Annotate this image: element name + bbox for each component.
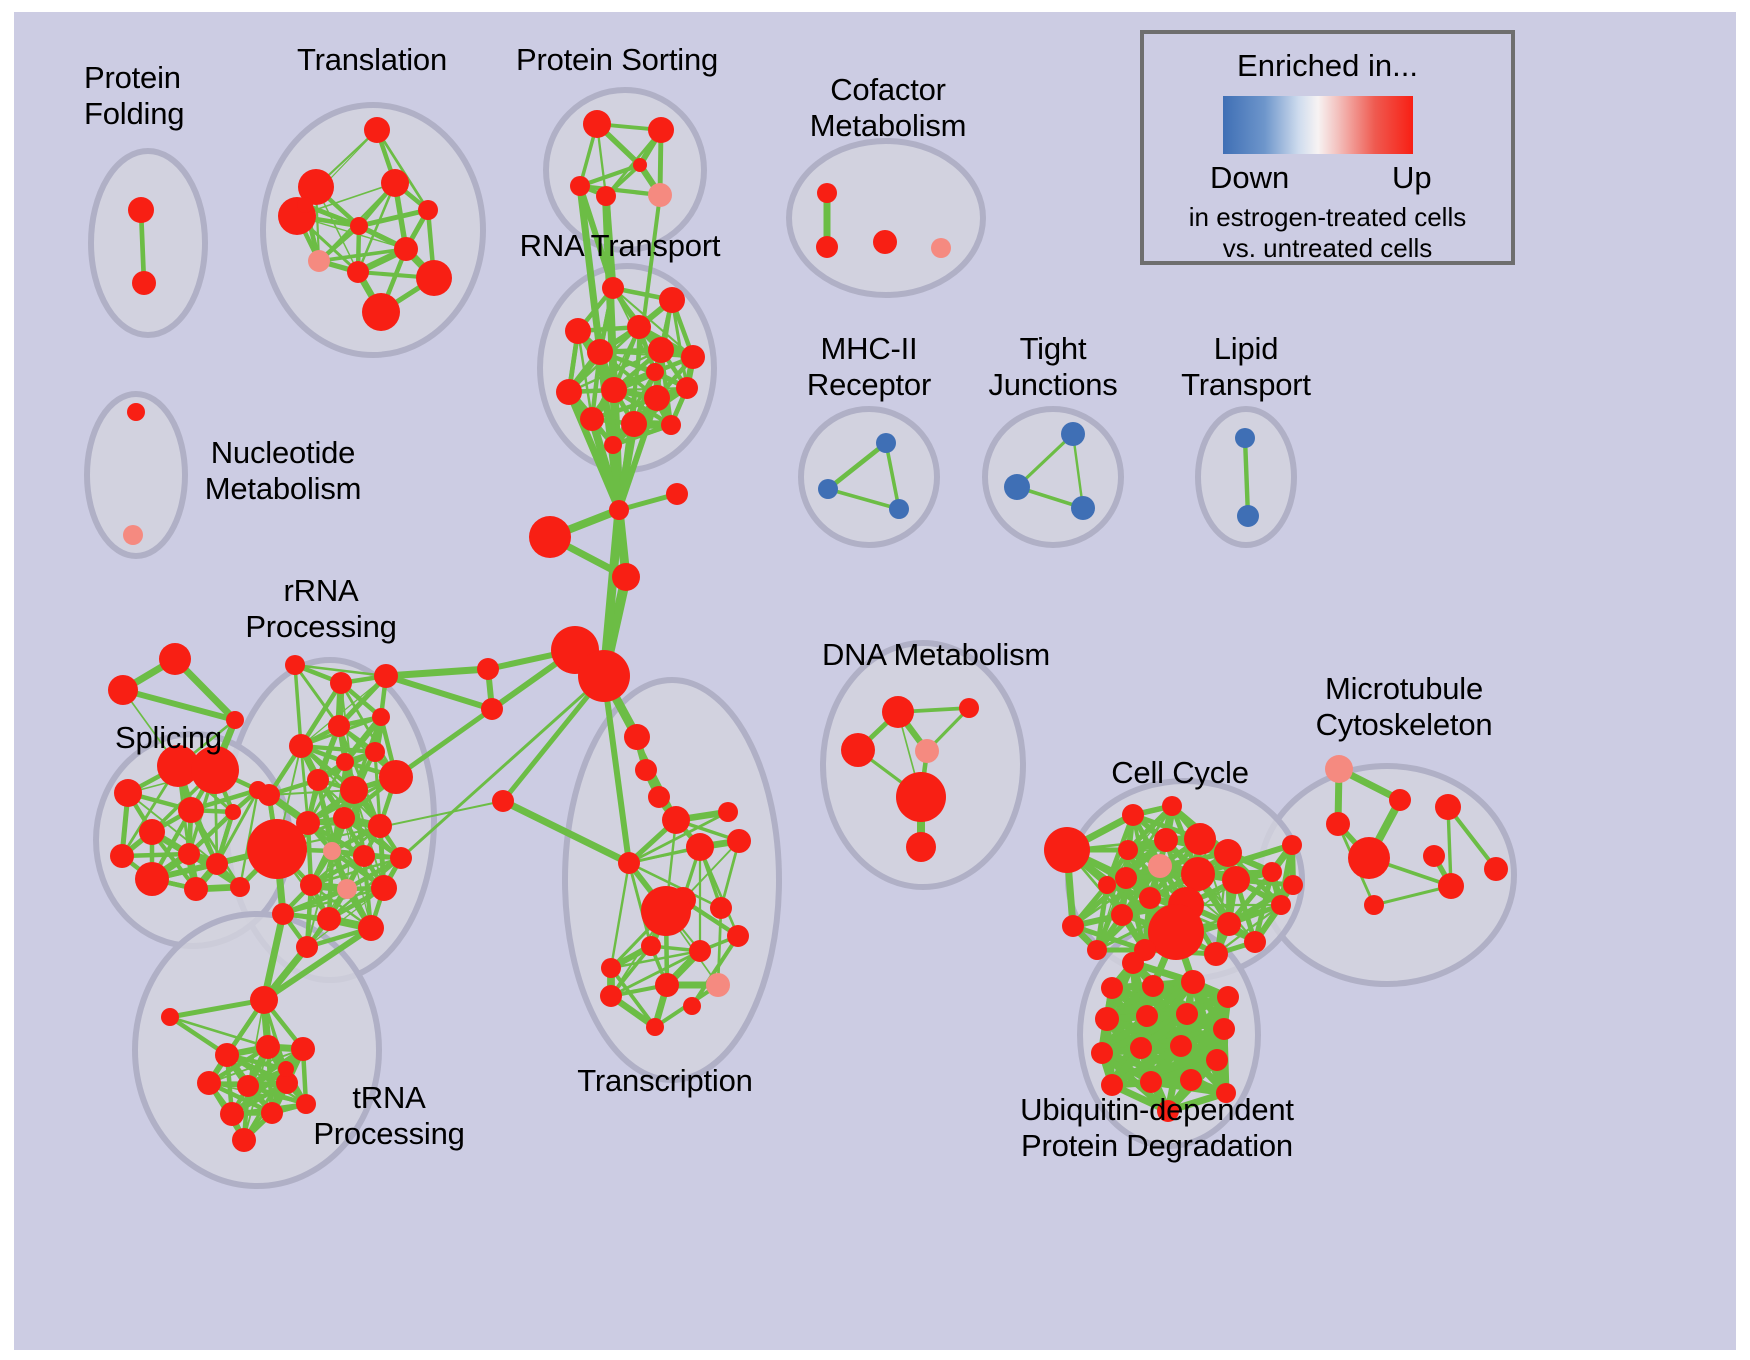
network-node-sp[interactable] (110, 844, 134, 868)
network-node-cc[interactable] (1122, 804, 1144, 826)
cluster-label-rna-transport: RNA Transport (520, 228, 721, 264)
network-node-rt[interactable] (627, 315, 651, 339)
cluster-label-lipid-transport: LipidTransport (1181, 331, 1311, 403)
network-node-rr[interactable] (258, 784, 280, 806)
cluster-ellipse-transcription (565, 680, 779, 1080)
network-node-rt[interactable] (661, 415, 681, 435)
network-node-cc[interactable] (1262, 862, 1282, 882)
network-node-cc[interactable] (1115, 867, 1137, 889)
network-node-rt[interactable] (601, 377, 627, 403)
cluster-label-line: Metabolism (810, 108, 967, 144)
cluster-label-translation: Translation (297, 42, 447, 78)
network-node-mh[interactable] (876, 433, 896, 453)
legend-down-label: Down (1210, 160, 1289, 196)
cluster-label-line: Translation (297, 42, 447, 78)
network-node-cc[interactable] (1118, 840, 1138, 860)
network-node-mt[interactable] (1435, 794, 1461, 820)
network-node-ub[interactable] (1122, 952, 1144, 974)
network-node-rt[interactable] (556, 379, 582, 405)
network-node-tx[interactable] (686, 833, 714, 861)
legend-box: Enriched in... Down Up in estrogen-treat… (1140, 30, 1515, 265)
network-node-mt[interactable] (1325, 755, 1353, 783)
network-node-lt[interactable] (1237, 505, 1259, 527)
cluster-label-line: Processing (245, 609, 396, 645)
network-node-nm[interactable] (127, 403, 145, 421)
network-node-ub[interactable] (1142, 975, 1164, 997)
legend-subtitle-line2: vs. untreated cells (1144, 233, 1511, 264)
network-node-tn[interactable] (215, 1043, 239, 1067)
network-node-ps[interactable] (583, 110, 611, 138)
network-node-tn[interactable] (220, 1102, 244, 1126)
cluster-label-microtubule-cytoskeleton: MicrotubuleCytoskeleton (1316, 671, 1493, 743)
network-node-tn[interactable] (256, 1035, 280, 1059)
network-node-cc[interactable] (1062, 915, 1084, 937)
network-node-ps[interactable] (648, 183, 672, 207)
cluster-label-line: Folding (84, 96, 184, 132)
network-node-bridge[interactable] (477, 658, 499, 680)
cluster-label-line: Cell Cycle (1111, 755, 1249, 791)
network-node-sp[interactable] (230, 877, 250, 897)
cluster-label-line: tRNA (313, 1080, 464, 1116)
cluster-ellipse-cofactor-metabolism (789, 141, 983, 295)
network-node-tn[interactable] (261, 1102, 283, 1124)
network-node-rr[interactable] (333, 807, 355, 829)
network-node-tj[interactable] (1071, 496, 1095, 520)
network-node-mt[interactable] (1282, 835, 1302, 855)
network-node-rt[interactable] (644, 385, 670, 411)
network-node-rr[interactable] (337, 879, 357, 899)
network-node-rr[interactable] (336, 753, 354, 771)
network-node-cc[interactable] (1184, 823, 1216, 855)
network-node-rr[interactable] (353, 845, 375, 867)
cluster-label-cofactor-metabolism: CofactorMetabolism (810, 72, 967, 144)
network-node-ub[interactable] (1130, 1037, 1152, 1059)
cluster-label-line: RNA Transport (520, 228, 721, 264)
network-node-ps[interactable] (596, 186, 616, 206)
network-node-ub[interactable] (1176, 1003, 1198, 1025)
network-node-tx[interactable] (641, 886, 691, 936)
network-node-rt[interactable] (587, 339, 613, 365)
network-node-cc[interactable] (1222, 866, 1250, 894)
network-node-rt[interactable] (646, 363, 664, 381)
network-node-rr[interactable] (340, 776, 368, 804)
cluster-ellipse-tight-junctions (985, 409, 1121, 545)
network-node-lt[interactable] (1235, 428, 1255, 448)
network-node-rr[interactable] (307, 769, 329, 791)
cluster-label-line: Junctions (988, 367, 1117, 403)
network-node-ub[interactable] (1213, 1018, 1235, 1040)
network-node-rr[interactable] (372, 708, 390, 726)
network-node-rt[interactable] (602, 277, 624, 299)
network-node-tx[interactable] (727, 925, 749, 947)
network-node-mt[interactable] (1364, 895, 1384, 915)
cluster-label-line: Splicing (115, 720, 222, 756)
network-node-tx[interactable] (718, 802, 738, 822)
network-node-tr[interactable] (362, 293, 400, 331)
network-node-sp[interactable] (108, 675, 138, 705)
cluster-label-line: Protein Sorting (516, 42, 718, 78)
network-node-bridge[interactable] (648, 786, 670, 808)
cluster-label-nucleotide-metabolism: NucleotideMetabolism (205, 435, 362, 507)
cluster-label-trna-processing: tRNAProcessing (313, 1080, 464, 1152)
network-node-cc[interactable] (1111, 904, 1133, 926)
network-node-ub[interactable] (1101, 977, 1123, 999)
cluster-label-line: Tight (988, 331, 1117, 367)
network-node-sp[interactable] (225, 804, 241, 820)
network-node-sp[interactable] (206, 853, 228, 875)
network-node-cc[interactable] (1217, 912, 1241, 936)
network-node-sp[interactable] (178, 797, 204, 823)
network-node-ub[interactable] (1181, 970, 1205, 994)
network-node-cc[interactable] (1204, 942, 1228, 966)
cluster-label-line: Lipid (1181, 331, 1311, 367)
network-node-rr[interactable] (365, 742, 385, 762)
cluster-label-cell-cycle: Cell Cycle (1111, 755, 1249, 791)
network-node-tx[interactable] (683, 997, 701, 1015)
network-node-cc[interactable] (1044, 827, 1090, 873)
network-node-cc[interactable] (1244, 931, 1266, 953)
network-node-rt[interactable] (580, 407, 604, 431)
network-node-dm[interactable] (959, 698, 979, 718)
network-node-bridge[interactable] (666, 483, 688, 505)
network-node-cf[interactable] (873, 230, 897, 254)
network-node-mt[interactable] (1484, 857, 1508, 881)
network-node-ub[interactable] (1091, 1042, 1113, 1064)
cluster-label-line: MHC-II (807, 331, 931, 367)
cluster-label-line: Nucleotide (205, 435, 362, 471)
network-node-cf[interactable] (816, 236, 838, 258)
network-node-dm[interactable] (896, 772, 946, 822)
network-node-tj[interactable] (1061, 422, 1085, 446)
network-node-rr[interactable] (330, 672, 352, 694)
enrichment-network-figure: ProteinFoldingTranslationProtein Sorting… (0, 0, 1750, 1360)
network-node-sp[interactable] (184, 877, 208, 901)
network-node-cc[interactable] (1148, 904, 1204, 960)
cluster-label-rrna-processing: rRNAProcessing (245, 573, 396, 645)
network-node-ub[interactable] (1170, 1035, 1192, 1057)
network-node-rr[interactable] (285, 655, 305, 675)
network-node-tn[interactable] (278, 1061, 294, 1077)
cluster-ellipse-protein-folding (91, 151, 205, 335)
network-node-mt[interactable] (1438, 873, 1464, 899)
network-node-tn[interactable] (161, 1008, 179, 1026)
legend-subtitle-line1: in estrogen-treated cells (1144, 202, 1511, 233)
network-node-mt[interactable] (1389, 789, 1411, 811)
legend-up-label: Up (1392, 160, 1432, 196)
cluster-label-protein-folding: ProteinFolding (84, 60, 184, 132)
network-node-sp[interactable] (159, 643, 191, 675)
network-node-rt[interactable] (681, 345, 705, 369)
network-node-tr[interactable] (381, 169, 409, 197)
network-node-tx[interactable] (662, 806, 690, 834)
cluster-label-transcription: Transcription (577, 1063, 752, 1099)
network-node-tr[interactable] (347, 261, 369, 283)
network-node-tx[interactable] (646, 1018, 664, 1036)
network-node-rt[interactable] (648, 337, 674, 363)
cluster-label-line: Metabolism (205, 471, 362, 507)
network-node-tx[interactable] (689, 940, 711, 962)
network-node-cc[interactable] (1271, 895, 1291, 915)
network-node-tx[interactable] (600, 985, 622, 1007)
network-node-cc[interactable] (1181, 857, 1215, 891)
network-node-nm[interactable] (123, 525, 143, 545)
network-node-dm[interactable] (841, 733, 875, 767)
network-node-mh[interactable] (889, 499, 909, 519)
network-node-tr[interactable] (364, 117, 390, 143)
network-node-bridge[interactable] (624, 724, 650, 750)
network-node-tx[interactable] (601, 958, 621, 978)
cluster-label-line: Transcription (577, 1063, 752, 1099)
network-node-cc[interactable] (1214, 839, 1242, 867)
network-node-sp[interactable] (135, 862, 169, 896)
network-node-tr[interactable] (416, 260, 452, 296)
network-node-rt[interactable] (604, 436, 622, 454)
network-node-ub[interactable] (1180, 1069, 1202, 1091)
network-node-pf[interactable] (132, 271, 156, 295)
network-node-rt[interactable] (565, 318, 591, 344)
cluster-label-line: Processing (313, 1116, 464, 1152)
cluster-label-line: Cofactor (810, 72, 967, 108)
cluster-label-ubiquitin-degradation: Ubiquitin-dependentProtein Degradation (1020, 1092, 1294, 1164)
network-node-tr[interactable] (297, 197, 313, 213)
network-node-bridge[interactable] (612, 563, 640, 591)
network-node-ub[interactable] (1136, 1005, 1158, 1027)
cluster-label-line: Receptor (807, 367, 931, 403)
cluster-label-line: Protein Degradation (1020, 1128, 1294, 1164)
network-node-mt[interactable] (1423, 845, 1445, 867)
network-node-sp[interactable] (114, 779, 142, 807)
network-node-dm[interactable] (882, 696, 914, 728)
network-node-tx[interactable] (727, 829, 751, 853)
network-node-tr[interactable] (418, 200, 438, 220)
network-node-rr[interactable] (358, 915, 384, 941)
network-node-cc[interactable] (1139, 887, 1161, 909)
network-node-tn[interactable] (237, 1075, 259, 1097)
network-edge (386, 669, 488, 676)
network-node-tn[interactable] (197, 1071, 221, 1095)
network-node-tx[interactable] (641, 936, 661, 956)
cluster-label-protein-sorting: Protein Sorting (516, 42, 718, 78)
legend-gradient-bar (1223, 96, 1413, 154)
network-node-bridge[interactable] (578, 650, 630, 702)
network-node-cc[interactable] (1087, 940, 1107, 960)
network-node-sp[interactable] (178, 843, 200, 865)
network-node-rt[interactable] (676, 377, 698, 399)
network-node-tn[interactable] (250, 986, 278, 1014)
cluster-label-line: Transport (1181, 367, 1311, 403)
cluster-label-line: DNA Metabolism (822, 637, 1050, 673)
network-node-cc[interactable] (1154, 828, 1178, 852)
network-node-rt[interactable] (621, 411, 647, 437)
network-node-rr[interactable] (379, 760, 413, 794)
network-node-dm[interactable] (906, 832, 936, 862)
network-node-mt[interactable] (1348, 837, 1390, 879)
network-node-bridge[interactable] (529, 516, 571, 558)
network-node-rr[interactable] (323, 842, 341, 860)
network-node-tr[interactable] (308, 250, 330, 272)
network-node-sp[interactable] (139, 819, 165, 845)
network-node-rr[interactable] (317, 907, 341, 931)
network-node-rr[interactable] (296, 936, 318, 958)
network-node-bridge[interactable] (492, 790, 514, 812)
network-node-cc[interactable] (1162, 796, 1182, 816)
network-node-rr[interactable] (328, 715, 350, 737)
network-node-ub[interactable] (1217, 986, 1239, 1008)
network-node-tj[interactable] (1004, 474, 1030, 500)
network-node-tx[interactable] (706, 973, 730, 997)
network-node-tx[interactable] (618, 852, 640, 874)
network-node-rr[interactable] (368, 814, 392, 838)
network-node-rr[interactable] (272, 903, 294, 925)
network-node-tn[interactable] (232, 1128, 256, 1152)
network-node-sp[interactable] (226, 711, 244, 729)
network-node-ub[interactable] (1095, 1007, 1119, 1031)
cluster-label-splicing: Splicing (115, 720, 222, 756)
network-node-pf[interactable] (128, 197, 154, 223)
network-node-cc[interactable] (1148, 854, 1172, 878)
network-node-rr[interactable] (371, 875, 397, 901)
network-node-tn[interactable] (291, 1037, 315, 1061)
network-node-mt[interactable] (1283, 875, 1303, 895)
network-node-rr[interactable] (390, 847, 412, 869)
network-node-mh[interactable] (818, 479, 838, 499)
network-node-bridge[interactable] (481, 698, 503, 720)
network-node-tr[interactable] (350, 217, 368, 235)
network-node-mt[interactable] (1326, 812, 1350, 836)
cluster-label-line: Ubiquitin-dependent (1020, 1092, 1294, 1128)
cluster-label-line: rRNA (245, 573, 396, 609)
network-node-tx[interactable] (655, 973, 679, 997)
network-node-bridge[interactable] (609, 500, 629, 520)
network-node-rr[interactable] (247, 819, 307, 879)
network-node-ps[interactable] (648, 117, 674, 143)
network-node-cf[interactable] (931, 238, 951, 258)
cluster-label-mhc-ii-receptor: MHC-IIReceptor (807, 331, 931, 403)
network-node-tx[interactable] (710, 897, 732, 919)
cluster-label-line: Protein (84, 60, 184, 96)
network-node-tr[interactable] (394, 237, 418, 261)
legend-title: Enriched in... (1144, 48, 1511, 84)
network-node-rr[interactable] (374, 664, 398, 688)
network-edge (1245, 438, 1248, 516)
network-node-rr[interactable] (300, 874, 322, 896)
network-node-dm[interactable] (915, 739, 939, 763)
cluster-label-dna-metabolism: DNA Metabolism (822, 637, 1050, 673)
network-node-ps[interactable] (633, 158, 647, 172)
cluster-label-line: Microtubule (1316, 671, 1493, 707)
cluster-label-tight-junctions: TightJunctions (988, 331, 1117, 403)
network-node-cc[interactable] (1098, 876, 1116, 894)
network-node-bridge[interactable] (635, 759, 657, 781)
network-node-rr[interactable] (289, 734, 313, 758)
legend-subtitle: in estrogen-treated cells vs. untreated … (1144, 202, 1511, 264)
network-node-ps[interactable] (570, 176, 590, 196)
network-node-cf[interactable] (817, 183, 837, 203)
network-node-ub[interactable] (1140, 1071, 1162, 1093)
cluster-ellipse-mhc-ii-receptor (801, 409, 937, 545)
network-node-ub[interactable] (1206, 1049, 1228, 1071)
cluster-label-line: Cytoskeleton (1316, 707, 1493, 743)
network-node-rt[interactable] (659, 287, 685, 313)
